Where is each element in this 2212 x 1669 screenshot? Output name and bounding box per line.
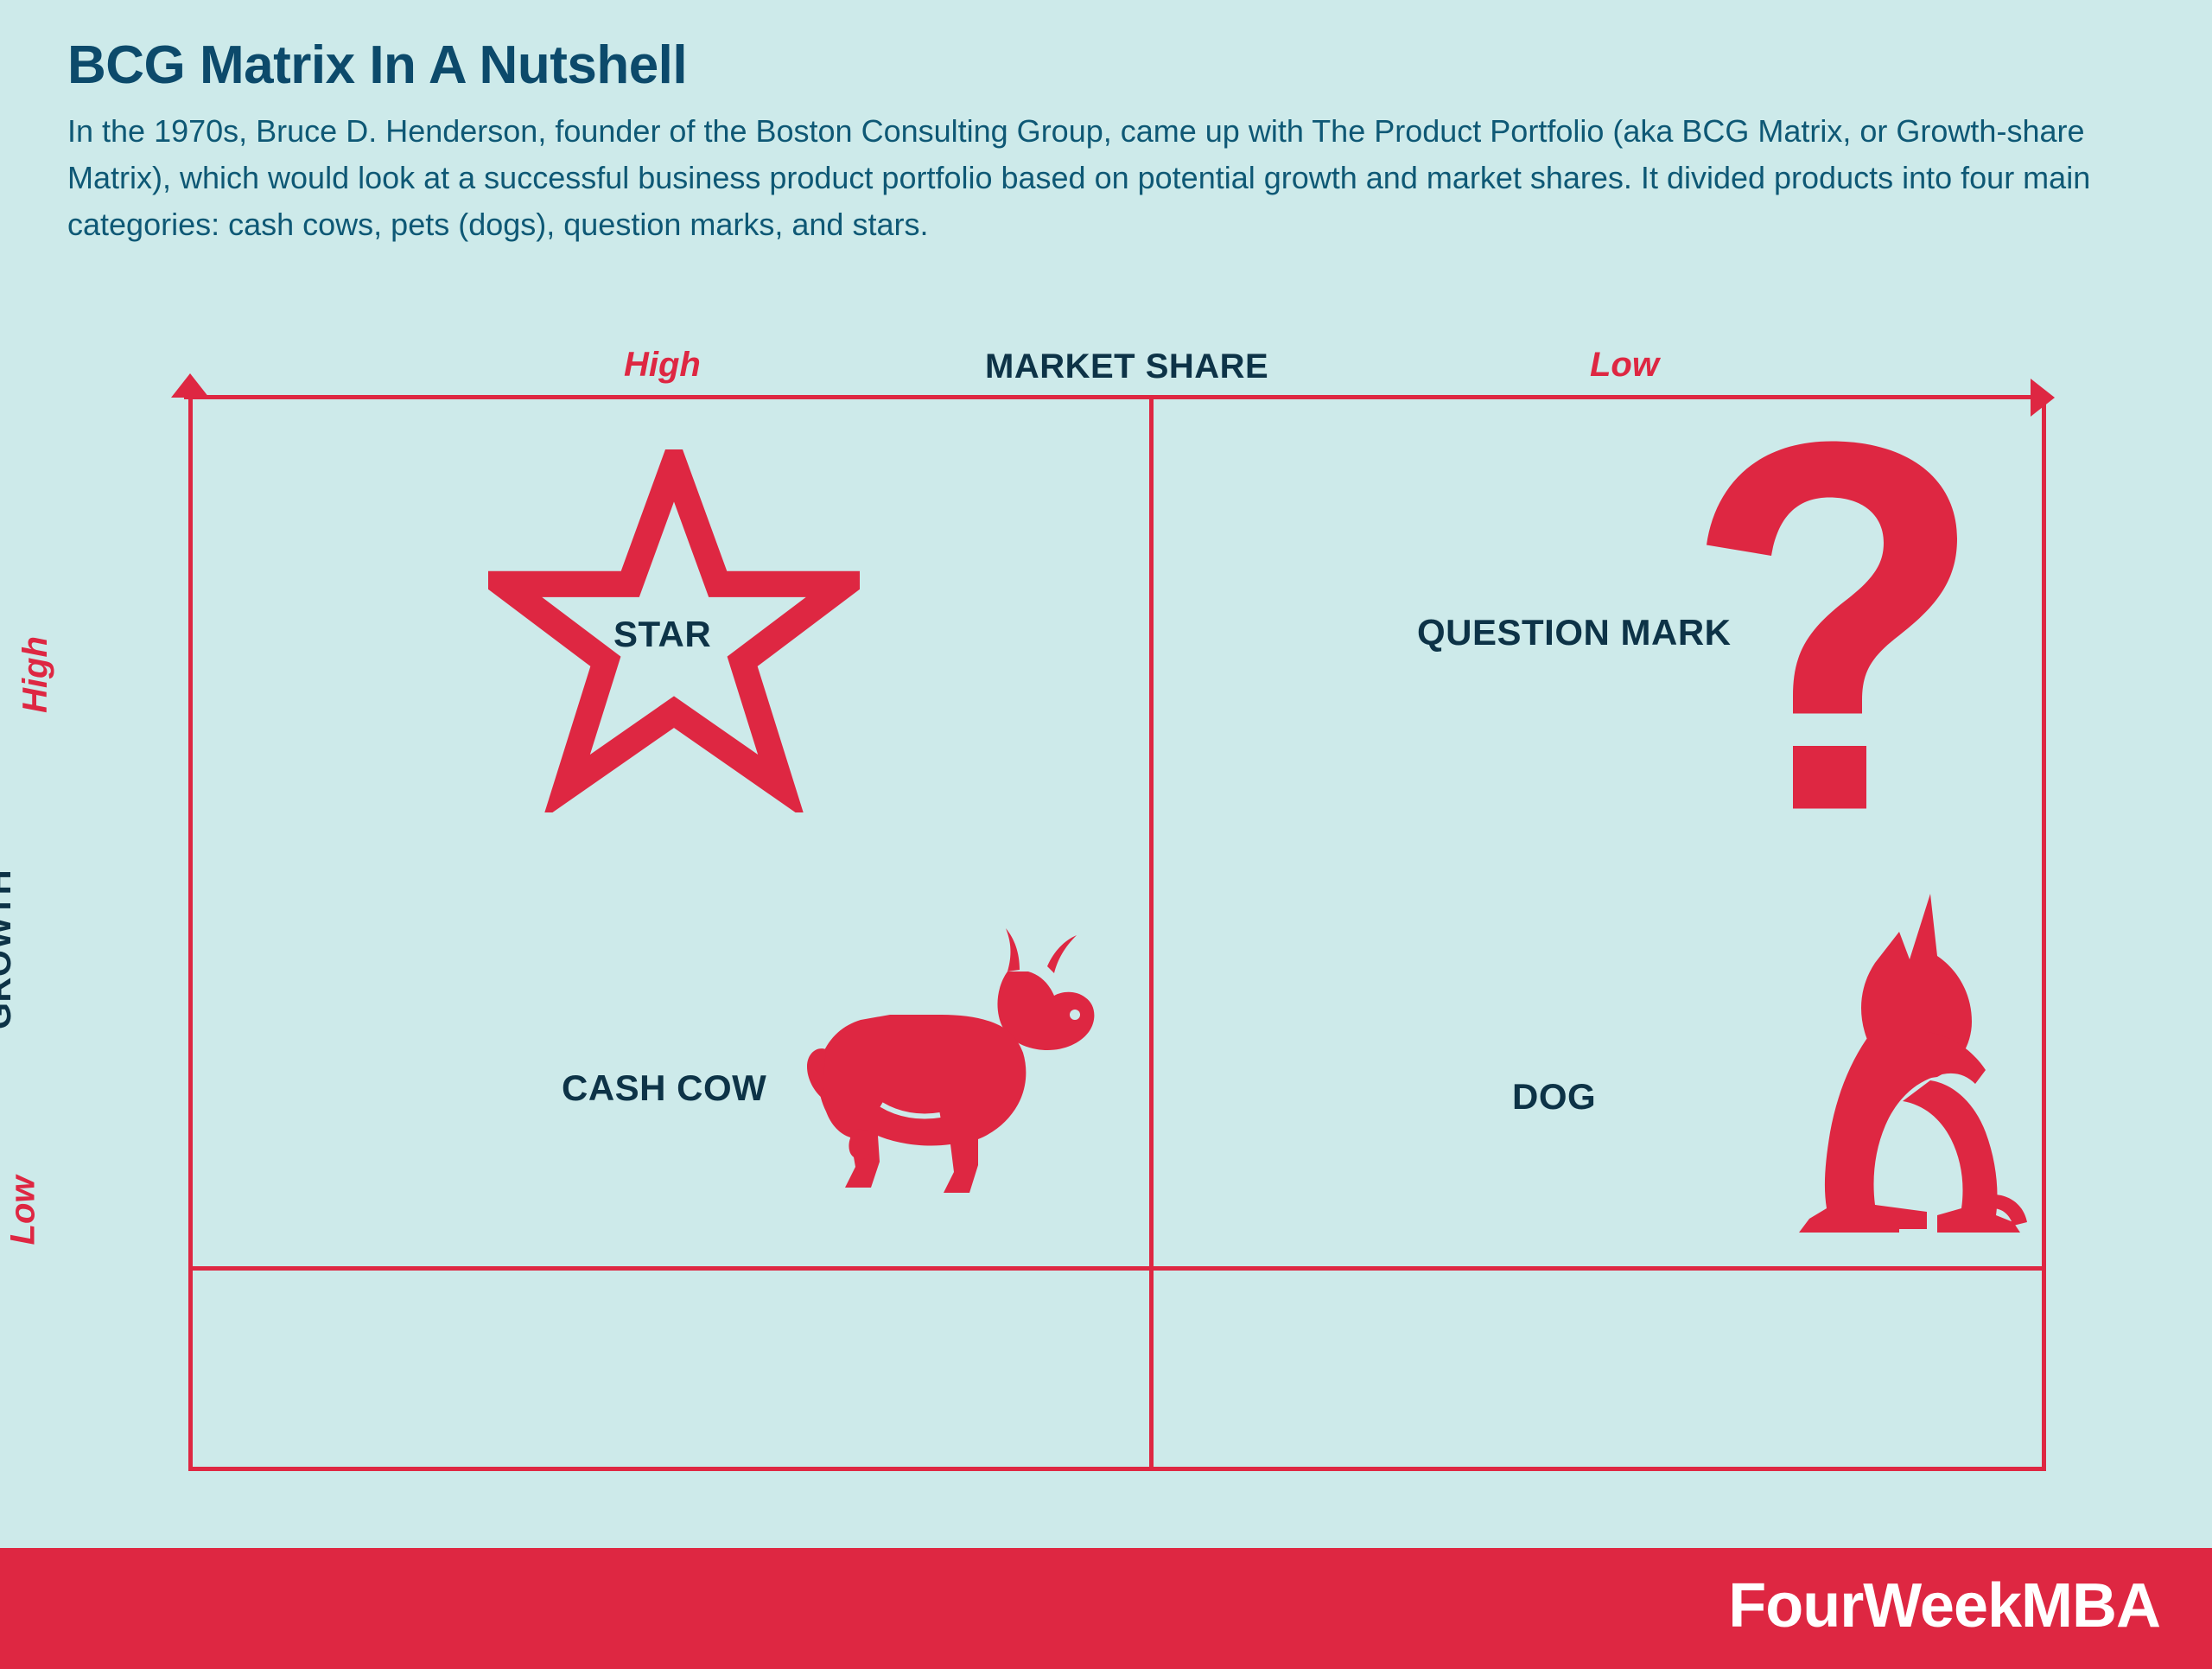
quadrant-question-mark-label: QUESTION MARK: [1417, 612, 1732, 653]
x-axis-caption: MARKET SHARE: [985, 347, 1268, 386]
x-axis-low-label: Low: [1590, 346, 1659, 385]
cow-icon: [760, 925, 1106, 1214]
header: BCG Matrix In A Nutshell In the 1970s, B…: [67, 35, 2141, 248]
question-mark-icon: [1702, 439, 1961, 815]
matrix-horizontal-divider: [188, 1266, 2046, 1271]
quadrant-star: STAR: [484, 449, 1020, 830]
dog-icon: [1771, 890, 2031, 1240]
page-title: BCG Matrix In A Nutshell: [67, 35, 2141, 96]
y-axis-caption: GROWTH: [0, 870, 19, 1029]
brand-logo: FourWeekMBA: [1728, 1570, 2160, 1641]
page-description: In the 1970s, Bruce D. Henderson, founde…: [67, 108, 2141, 248]
y-axis-high-label: High: [16, 636, 55, 713]
y-axis-arrow-icon: [171, 373, 209, 398]
quadrant-dog-label: DOG: [1512, 1076, 1596, 1118]
bcg-matrix: MARKET SHARE High Low GROWTH High Low ST…: [0, 337, 2212, 1547]
y-axis-low-label: Low: [3, 1176, 42, 1245]
quadrant-cash-cow-label: CASH COW: [562, 1067, 766, 1109]
quadrant-question-mark: QUESTION MARK: [1400, 439, 1987, 837]
quadrant-cash-cow: CASH COW: [544, 925, 1149, 1236]
matrix-vertical-divider: [1149, 399, 1154, 1471]
footer-banner: FourWeekMBA: [0, 1548, 2212, 1669]
quadrant-dog: DOG: [1495, 890, 2048, 1253]
x-axis-high-label: High: [624, 346, 701, 385]
quadrant-star-label: STAR: [613, 614, 711, 655]
